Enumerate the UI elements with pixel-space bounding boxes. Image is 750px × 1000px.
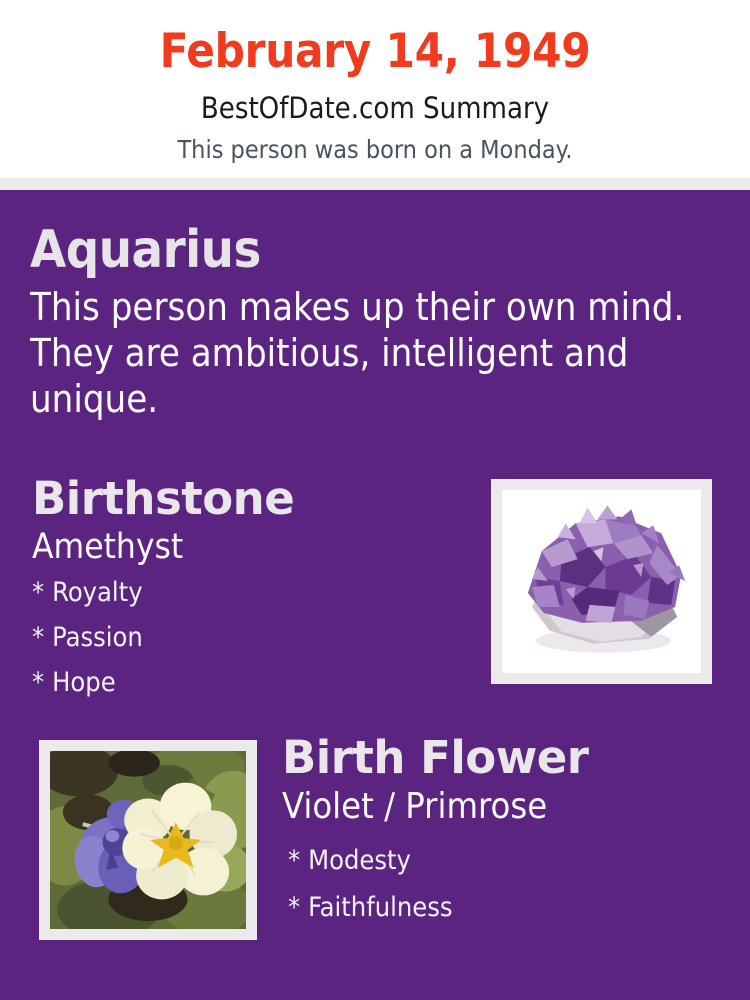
list-item: *Royalty — [32, 579, 472, 606]
content-panel: Aquarius This person makes up their own … — [0, 190, 750, 1000]
birth-flower-photo — [50, 751, 246, 929]
asterisk-icon: * — [288, 845, 300, 876]
birthstone-heading: Birthstone — [32, 476, 472, 521]
header-divider — [0, 178, 750, 190]
birth-flower-trait-list: *Modesty *Faithfulness — [288, 847, 732, 921]
birth-flower-trait-label: Faithfulness — [308, 892, 452, 923]
violet-primrose-flower-icon — [50, 751, 246, 929]
list-item: *Passion — [32, 624, 472, 651]
list-item: *Modesty — [288, 847, 732, 874]
birthstone-trait-label: Passion — [52, 622, 143, 653]
list-item: *Faithfulness — [288, 894, 732, 921]
site-summary-label: BestOfDate.com Summary — [0, 75, 750, 123]
birth-flower-name: Violet / Primrose — [282, 788, 732, 827]
list-item: *Hope — [32, 669, 472, 696]
birthstone-trait-label: Hope — [52, 667, 116, 698]
asterisk-icon: * — [32, 622, 44, 653]
birthstone-trait-list: *Royalty *Passion *Hope — [32, 579, 472, 696]
birth-flower-trait-label: Modesty — [308, 845, 411, 876]
card-header: February 14, 1949 BestOfDate.com Summary… — [0, 0, 750, 178]
birth-flower-heading: Birth Flower — [282, 735, 732, 780]
asterisk-icon: * — [288, 892, 300, 923]
birthstone-photo — [502, 490, 701, 673]
asterisk-icon: * — [32, 577, 44, 608]
birth-flower-section: Birth Flower Violet / Primrose *Modesty … — [282, 735, 732, 941]
zodiac-description: This person makes up their own mind. The… — [30, 284, 690, 423]
page-title-date: February 14, 1949 — [0, 0, 750, 75]
birthstone-name: Amethyst — [32, 529, 472, 567]
amethyst-crystal-icon — [502, 490, 701, 673]
zodiac-section: Aquarius This person makes up their own … — [30, 223, 720, 423]
zodiac-sign-title: Aquarius — [30, 223, 720, 278]
birth-flower-photo-frame — [39, 740, 257, 940]
birthstone-photo-frame — [491, 479, 712, 684]
birthday-summary-card: February 14, 1949 BestOfDate.com Summary… — [0, 0, 750, 1000]
birthstone-section: Birthstone Amethyst *Royalty *Passion *H… — [32, 476, 472, 714]
day-of-week-text: This person was born on a Monday. — [0, 123, 750, 162]
birthstone-trait-label: Royalty — [52, 577, 142, 608]
asterisk-icon: * — [32, 667, 44, 698]
